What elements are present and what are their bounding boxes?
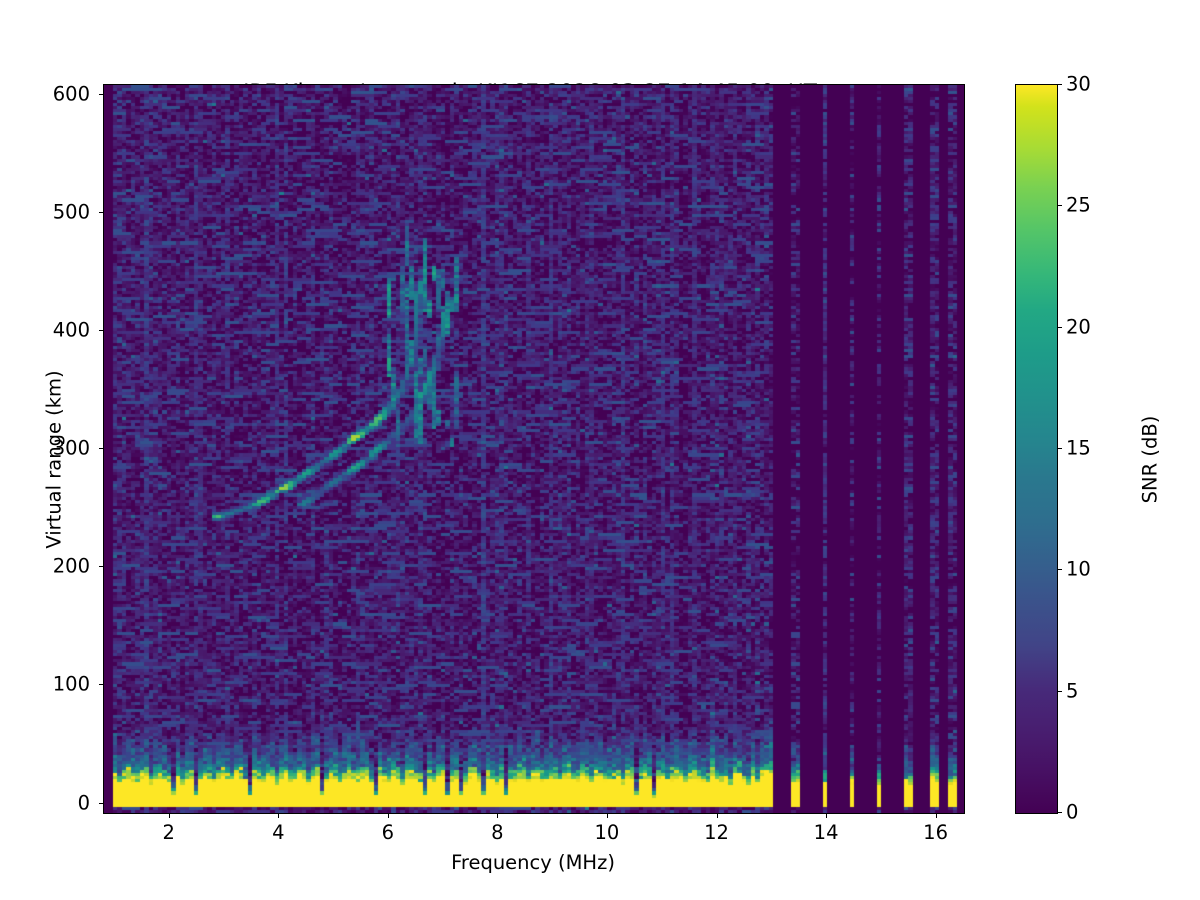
x-tick-mark (278, 813, 279, 818)
colorbar-tick-label: 5 (1066, 679, 1078, 702)
y-tick-mark (99, 448, 104, 449)
y-tick-mark (99, 212, 104, 213)
colorbar-tick-mark (1058, 84, 1063, 85)
x-tick-mark (497, 813, 498, 818)
colorbar-tick-mark (1058, 691, 1063, 692)
x-tick-label: 14 (814, 821, 839, 844)
x-tick-mark (717, 813, 718, 818)
colorbar-tick-label: 0 (1066, 801, 1078, 824)
x-tick-mark (607, 813, 608, 818)
y-tick-label: 600 (53, 82, 90, 105)
x-tick-mark (936, 813, 937, 818)
x-tick-label: 12 (704, 821, 729, 844)
colorbar-tick-label: 30 (1066, 73, 1091, 96)
colorbar-label: SNR (dB) (1139, 310, 1162, 610)
x-tick-label: 4 (272, 821, 284, 844)
x-tick-mark (388, 813, 389, 818)
colorbar-tick-label: 20 (1066, 315, 1091, 338)
y-tick-mark (99, 684, 104, 685)
colorbar-tick-mark (1058, 812, 1063, 813)
colorbar-tick-label: 25 (1066, 194, 1091, 217)
y-axis-label: Virtual range (km) (43, 310, 66, 610)
x-axis-label: Frequency (MHz) (103, 851, 963, 874)
x-tick-label: 16 (923, 821, 948, 844)
x-tick-label: 8 (491, 821, 503, 844)
colorbar-tick-mark (1058, 448, 1063, 449)
ionogram-figure: IRF Kiruna Ionosonde KI167 2026-03-27 14… (0, 0, 1200, 900)
ionogram-heatmap (104, 85, 964, 813)
colorbar-tick-mark (1058, 205, 1063, 206)
x-tick-label: 6 (382, 821, 394, 844)
y-tick-mark (99, 803, 104, 804)
colorbar-tick-label: 15 (1066, 437, 1091, 460)
x-tick-mark (169, 813, 170, 818)
y-tick-mark (99, 94, 104, 95)
plot-area (103, 84, 965, 814)
x-tick-mark (826, 813, 827, 818)
x-tick-label: 10 (594, 821, 619, 844)
y-tick-label: 500 (53, 200, 90, 223)
y-tick-label: 100 (53, 673, 90, 696)
colorbar-tick-mark (1058, 569, 1063, 570)
y-tick-mark (99, 566, 104, 567)
x-tick-label: 2 (162, 821, 174, 844)
colorbar-tick-mark (1058, 327, 1063, 328)
colorbar-gradient (1015, 84, 1058, 814)
y-tick-label: 0 (78, 791, 90, 814)
colorbar-tick-label: 10 (1066, 558, 1091, 581)
y-tick-mark (99, 330, 104, 331)
